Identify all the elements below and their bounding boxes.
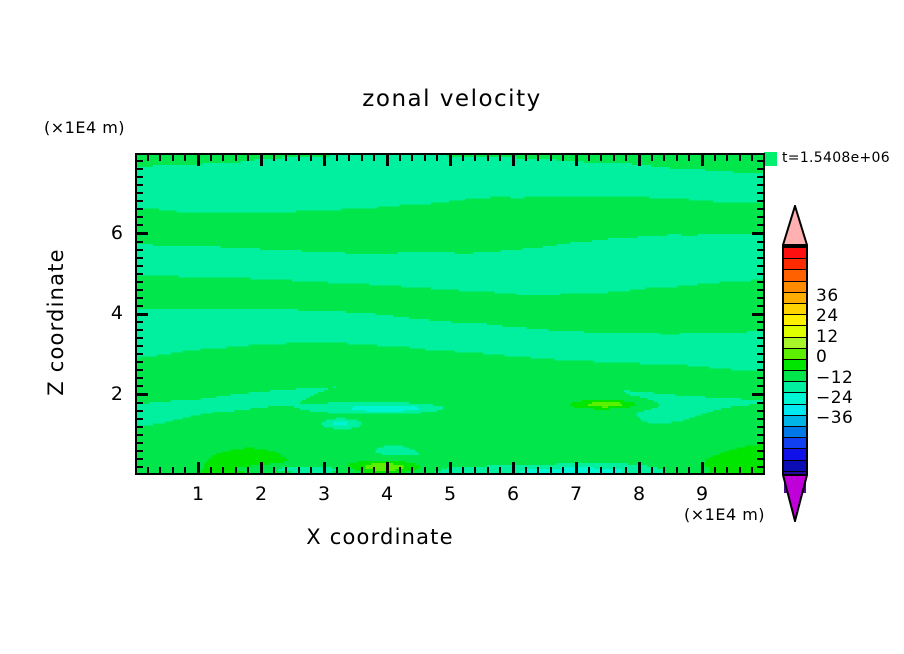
colorbar-band (784, 304, 806, 315)
colorbar-band (784, 360, 806, 371)
colorbar-band (784, 393, 806, 404)
colorbar-band (784, 293, 806, 304)
colorbar-label: 0 (816, 347, 827, 367)
colorbar-band (784, 349, 806, 360)
colorbar-band (784, 405, 806, 416)
colorbar-label: 36 (816, 286, 839, 306)
colorbar-band (784, 382, 806, 393)
colorbar-band (784, 315, 806, 326)
y-axis-title: Z coordinate (44, 202, 68, 442)
colorbar-band (784, 427, 806, 438)
colorbar-label: −12 (816, 368, 853, 388)
colorbar-label: −24 (816, 388, 853, 408)
y-tick-label: 2 (93, 383, 123, 405)
colorbar-over-cap (782, 205, 808, 246)
colorbar-band (784, 438, 806, 449)
colorbar[interactable]: 3624120−12−24−36 (776, 205, 904, 520)
colorbar-band (784, 338, 806, 349)
x-axis-title: X coordinate (0, 525, 760, 549)
x-axis-unit-label: (×1E4 m) (684, 505, 765, 524)
colorbar-bands (782, 246, 808, 474)
y-axis-tick-labels: 246 (0, 0, 904, 654)
colorbar-band (784, 461, 806, 472)
colorbar-band (784, 248, 806, 259)
colorbar-band (784, 270, 806, 281)
colorbar-band (784, 416, 806, 427)
y-tick-label: 4 (93, 302, 123, 324)
colorbar-band (784, 449, 806, 460)
colorbar-band (784, 259, 806, 270)
colorbar-label: −36 (816, 408, 853, 428)
colorbar-label: 24 (816, 306, 839, 326)
colorbar-band (784, 371, 806, 382)
y-tick-label: 6 (93, 222, 123, 244)
colorbar-under-cap (782, 474, 808, 522)
colorbar-band (784, 326, 806, 337)
colorbar-band (784, 282, 806, 293)
colorbar-label: 12 (816, 327, 839, 347)
